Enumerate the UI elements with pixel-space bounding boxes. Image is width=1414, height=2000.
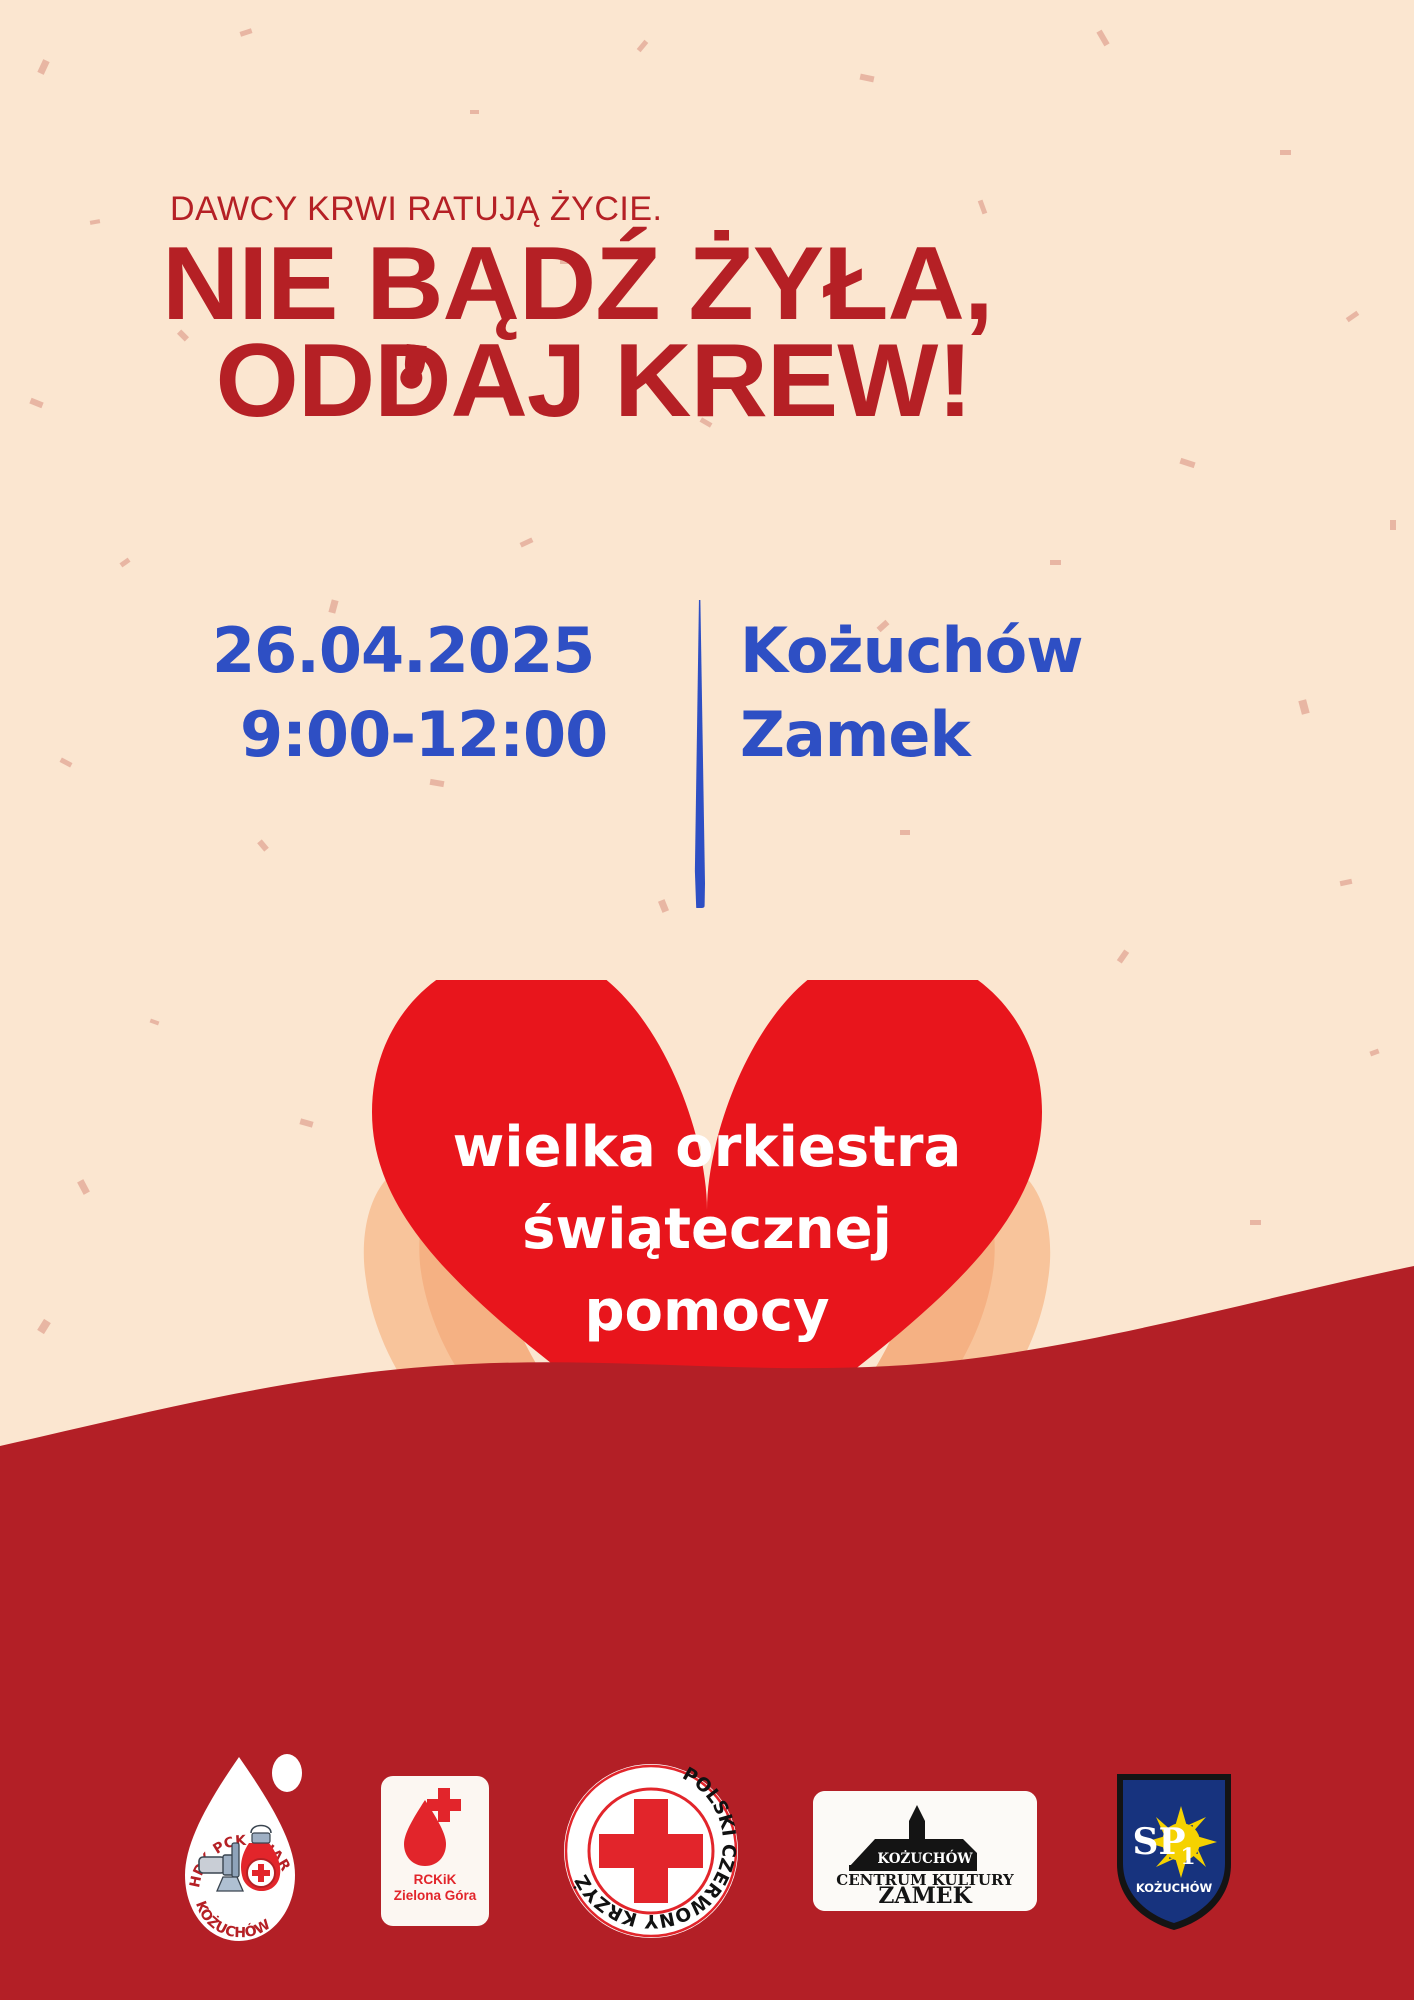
sponsor-logo-sp1-kozuchow: SP 1 KOŻUCHÓW (1111, 1768, 1237, 1934)
sponsor-logo-strip: HDK PCK WIARUS KOŻUCHÓW (0, 1746, 1414, 1956)
event-location: Kożuchów Zamek (740, 620, 1083, 766)
wosp-text-line-2: świątecznej (522, 1197, 892, 1262)
eyebrow-text: DAWCY KRWI RATUJĄ ŻYCIE. (170, 190, 662, 229)
sponsor-logo-centrum-kultury-zamek: KOŻUCHÓW CENTRUM KULTURY ZAMEK (813, 1791, 1037, 1911)
event-time: 9:00-12:00 (240, 704, 607, 766)
poster-root: DAWCY KRWI RATUJĄ ŻYCIE. NIE BĄDŹ ŻYŁA, … (0, 0, 1414, 2000)
sponsor-logo-hdk-pck-wiarus: HDK PCK WIARUS KOŻUCHÓW (177, 1751, 307, 1951)
rckik-drop-cross-icon (398, 1784, 472, 1870)
zamek-line-1: KOŻUCHÓW (877, 1850, 973, 1867)
sp-line-1: SP (1132, 1821, 1185, 1863)
wosp-text-line-1: wielka orkiestra (453, 1115, 962, 1180)
rckik-line-2: Zielona Góra (394, 1888, 477, 1904)
headline-line-2: ODDAJ KREW! (216, 333, 993, 430)
event-date: 26.04.2025 (212, 620, 607, 682)
event-info: 26.04.2025 9:00-12:00 Kożuchów Zamek (0, 620, 1414, 880)
rckik-line-1: RCKiK (394, 1872, 477, 1888)
event-city: Kożuchów (740, 620, 1083, 682)
sponsor-logo-polski-czerwony-krzyz: POLSKI CZERWONY KRZYŻ (563, 1763, 739, 1939)
sponsor-logo-rckik: RCKiK Zielona Góra (381, 1776, 489, 1926)
page-title: NIE BĄDŹ ŻYŁA, ODDAJ KREW! (162, 236, 993, 429)
zamek-line-3: ZAMEK (878, 1883, 972, 1909)
event-datetime: 26.04.2025 9:00-12:00 (212, 620, 607, 766)
sp-line-3: KOŻUCHÓW (1136, 1880, 1213, 1895)
sp-line-2: 1 (1180, 1844, 1195, 1870)
event-venue: Zamek (740, 704, 1083, 766)
